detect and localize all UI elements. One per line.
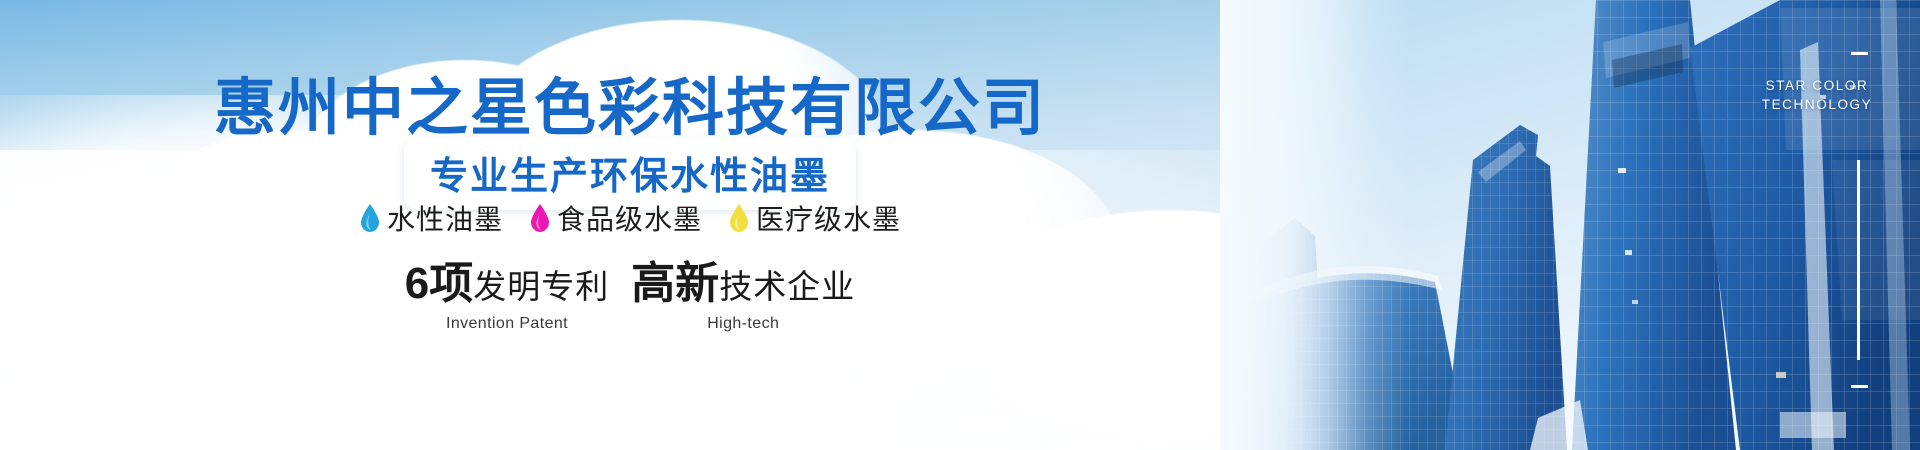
- feature-label: 水性油墨: [387, 198, 503, 238]
- feature-label: 食品级水墨: [557, 198, 702, 238]
- feature-item-medical-grade-ink: 医疗级水墨: [728, 198, 901, 238]
- side-text-line-2: TECHNOLOGY: [1742, 95, 1892, 114]
- water-drop-icon: [728, 203, 750, 233]
- badge-line: 高新技术企业: [631, 262, 855, 306]
- badge-line: 6项发明专利: [405, 262, 609, 306]
- star-color-technology-label: STAR COLOR TECHNOLOGY: [1742, 76, 1892, 114]
- badge-list: 6项发明专利 Invention Patent 高新技术企业 High-tech: [0, 262, 1260, 333]
- feature-list: 水性油墨 食品级水墨 医疗级水墨: [0, 198, 1260, 238]
- badge-high-tech: 高新技术企业 High-tech: [631, 262, 855, 333]
- accent-vertical-rule: [1857, 160, 1860, 360]
- skyscrapers-photo: [1220, 0, 1920, 450]
- badge-strong-text: 6项: [405, 259, 473, 308]
- badge-rest-text: 发明专利: [473, 268, 609, 305]
- feature-item-water-based-ink: 水性油墨: [359, 198, 503, 238]
- banner-content: 惠州中之星色彩科技有限公司 专业生产环保水性油墨 水性油墨 食品级水墨: [0, 0, 1260, 450]
- badge-invention-patent: 6项发明专利 Invention Patent: [405, 262, 609, 333]
- badge-rest-text: 技术企业: [719, 268, 855, 305]
- accent-tick-top: [1851, 52, 1868, 55]
- feature-label: 医疗级水墨: [756, 198, 901, 238]
- accent-tick-bottom: [1851, 385, 1868, 388]
- company-title: 惠州中之星色彩科技有限公司: [0, 57, 1260, 147]
- badge-english-text: High-tech: [631, 315, 855, 333]
- water-drop-icon: [529, 203, 551, 233]
- promo-banner: Star Color: [0, 0, 1920, 450]
- side-text-line-1: STAR COLOR: [1742, 76, 1892, 95]
- badge-strong-text: 高新: [631, 259, 719, 308]
- water-drop-icon: [359, 203, 381, 233]
- feature-item-food-grade-ink: 食品级水墨: [529, 198, 702, 238]
- badge-english-text: Invention Patent: [405, 315, 609, 333]
